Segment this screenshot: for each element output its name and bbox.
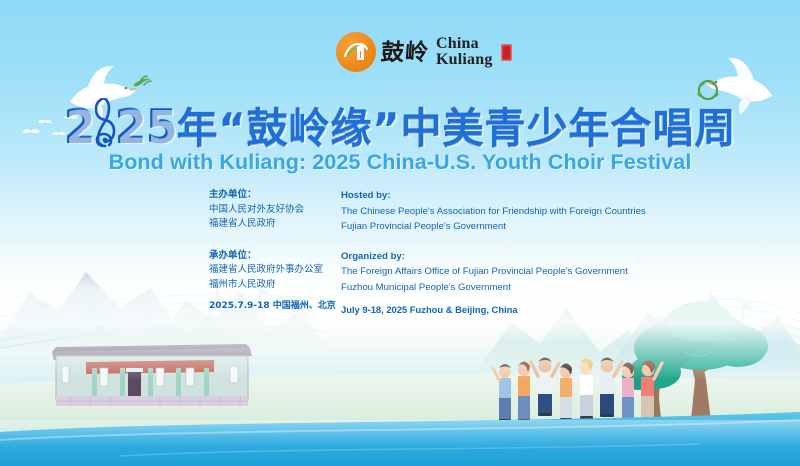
organizer-chinese-heading: 承办单位： — [209, 249, 337, 264]
organizer-chinese: 承办单位： 福建省人民政府外事办公室 福州市人民政府 2025.7.9-18 中… — [209, 249, 337, 318]
page-title-chinese: 225年“鼓岭缘”中美青少年合唱周 — [0, 98, 800, 149]
kuliang-logo: 鼓岭 China Kuliang — [336, 30, 512, 74]
large-green-tree — [622, 302, 768, 430]
organizer-english-line-2: Fuzhou Municipal People's Government — [341, 280, 679, 296]
festival-poster: 鼓岭 China Kuliang — [0, 0, 800, 466]
title-chinese-text: 年“鼓岭缘”中美青少年合唱周 — [177, 104, 737, 152]
host-english-line-1: The Chinese People's Association for Fri… — [341, 204, 679, 220]
organizer-chinese-line-2: 福州市人民政府 — [209, 278, 337, 293]
host-english: Hosted by: The Chinese People's Associat… — [341, 188, 679, 235]
host-english-heading: Hosted by: — [341, 188, 679, 204]
dateline-english: July 9-18, 2025 Fuzhou & Beijing, China — [341, 302, 679, 317]
page-title-english: Bond with Kuliang: 2025 China-U.S. Youth… — [0, 150, 800, 175]
logo-english-line2: Kuliang — [436, 52, 493, 68]
treble-clef-icon — [92, 98, 118, 148]
youth-choir-group-of-nine — [493, 358, 662, 423]
logo-english-name: China Kuliang — [436, 36, 493, 68]
title-year-digit-2: 2 — [64, 99, 95, 153]
logo-english-line1: China — [436, 36, 493, 52]
red-seal-icon — [501, 44, 512, 61]
organizer-english-heading: Organized by: — [341, 249, 679, 265]
host-chinese-line-2: 福建省人民政府 — [209, 217, 337, 232]
organizer-english: Organized by: The Foreign Affairs Office… — [341, 249, 679, 318]
water-shine — [0, 420, 800, 466]
logo-emblem-icon — [336, 30, 376, 74]
dateline-chinese: 2025.7.9-18 中国福州、北京 — [209, 300, 337, 314]
music-notes-right — [699, 294, 754, 331]
host-chinese: 主办单位： 中国人民对外友好协会 福建省人民政府 — [209, 188, 337, 235]
host-chinese-heading: 主办单位： — [209, 188, 337, 203]
organizer-english-line-1: The Foreign Affairs Office of Fujian Pro… — [341, 264, 679, 280]
organizer-chinese-line-1: 福建省人民政府外事办公室 — [209, 263, 337, 278]
host-chinese-line-1: 中国人民对外友好协会 — [209, 203, 337, 218]
credits-block: 主办单位： 中国人民对外友好协会 福建省人民政府 Hosted by: The … — [209, 188, 679, 317]
host-english-line-2: Fujian Provincial People's Government — [341, 219, 679, 235]
kuliang-stone-villa — [52, 344, 252, 406]
logo-chinese-name: 鼓岭 — [380, 41, 430, 64]
title-year-digits-25: 25 — [115, 99, 177, 153]
